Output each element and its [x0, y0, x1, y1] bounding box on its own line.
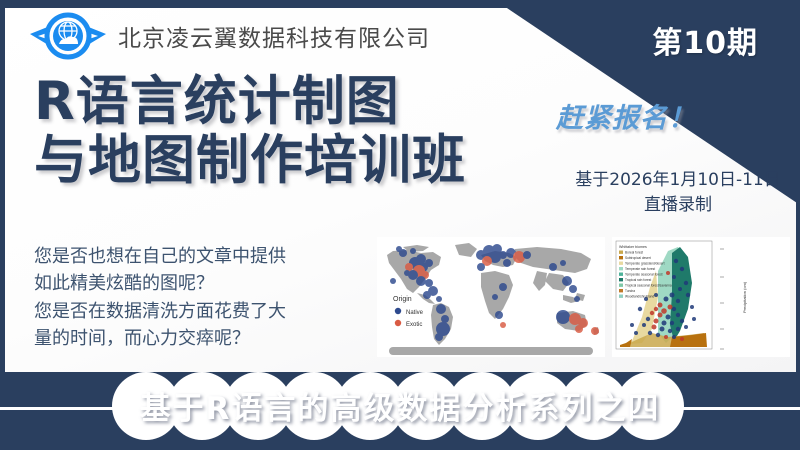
company-name: 北京凌云翼数据科技有限公司 [118, 19, 430, 53]
body-line-2: 如此精美炫酷的图呢？ [34, 270, 286, 297]
svg-text:Temperate rain forest: Temperate rain forest [625, 267, 655, 271]
svg-text:Tropical seasonal forest/savan: Tropical seasonal forest/savanna [625, 284, 672, 288]
title-line-2: 与地图制作培训班 [34, 131, 466, 190]
svg-text:Whittaker biomes: Whittaker biomes [619, 245, 647, 249]
date-line-2: 直播录制 [562, 193, 794, 218]
svg-text:Subtropical desert: Subtropical desert [625, 256, 651, 260]
body-copy: 您是否也想在自己的文章中提供 如此精美炫酷的图呢？ 您是否在数据清洗方面花费了大… [34, 243, 286, 352]
title-line-1: R语言统计制图 [34, 72, 466, 131]
svg-text:Precipitation (cm): Precipitation (cm) [742, 281, 747, 313]
whittaker-biome-scatter-figure: Whittaker biomes Boreal forest Subtropic… [612, 237, 790, 357]
svg-text:Exotic: Exotic [406, 322, 422, 328]
top-navy-strip [0, 0, 800, 8]
svg-text:Origin: Origin [393, 296, 412, 303]
body-line-3: 您是否在数据清洗方面花费了大 [34, 298, 286, 325]
svg-text:Tropical rain forest: Tropical rain forest [625, 278, 651, 282]
svg-text:Temperate grassland/desert: Temperate grassland/desert [625, 262, 665, 266]
page-title: R语言统计制图 与地图制作培训班 [34, 72, 466, 191]
svg-text:Tundra: Tundra [625, 289, 635, 293]
svg-text:Native: Native [406, 310, 424, 316]
bottom-banner-text: 基于R语言的高级数据分析系列之四 [0, 383, 800, 428]
svg-text:Boreal forest: Boreal forest [625, 251, 643, 255]
svg-text:Woodland/shrubland: Woodland/shrubland [625, 295, 654, 299]
body-line-1: 您是否也想在自己的文章中提供 [34, 243, 286, 270]
date-line-1: 基于2026年1月10日-11日 [562, 168, 794, 193]
winged-globe-logo-icon [28, 10, 108, 62]
issue-badge: 第10期 [652, 18, 758, 62]
world-bubble-map-figure: Origin Native Exotic [377, 237, 605, 357]
body-line-4: 量的时间，而心力交瘁呢？ [34, 325, 286, 352]
cta-text: 赶紧报名！ [556, 96, 696, 135]
header: 北京凌云翼数据科技有限公司 [28, 10, 430, 62]
promo-poster: 北京凌云翼数据科技有限公司 第10期 R语言统计制图 与地图制作培训班 赶紧报名… [0, 0, 800, 450]
svg-text:Temperate seasonal forest: Temperate seasonal forest [625, 273, 663, 277]
date-block: 基于2026年1月10日-11日 直播录制 [562, 168, 794, 217]
